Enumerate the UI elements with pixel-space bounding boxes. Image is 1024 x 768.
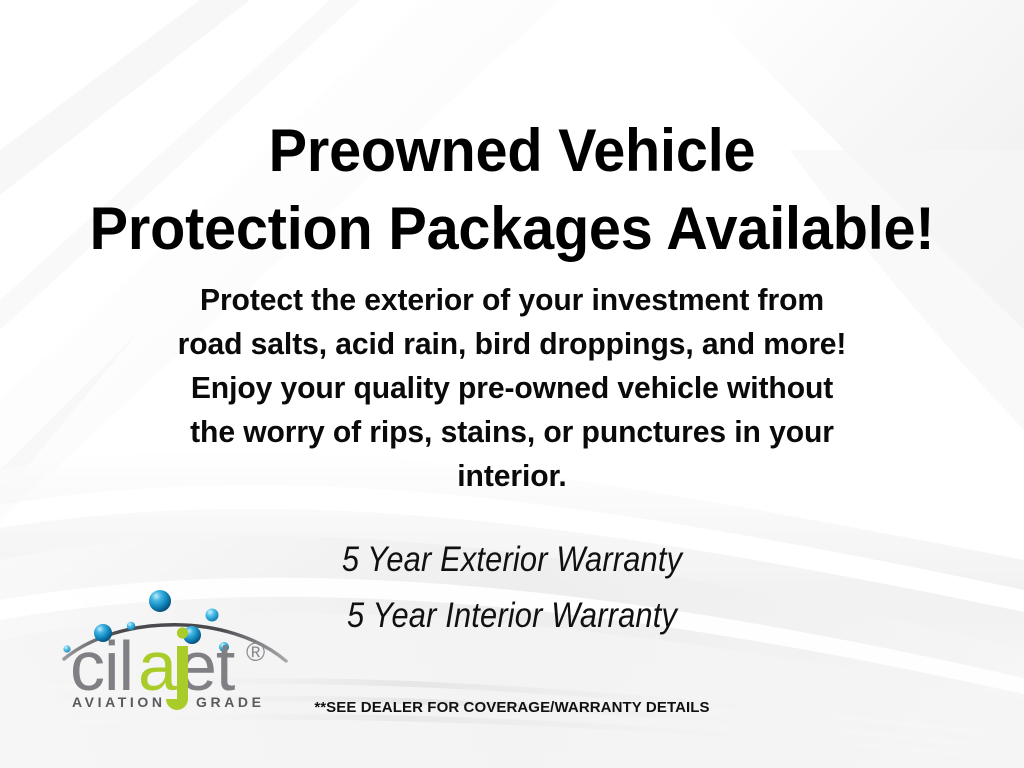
marketing-slide: Preowned Vehicle Protection Packages Ava… [0, 0, 1024, 768]
logo-bubble-medium-1 [206, 609, 219, 622]
logo-registered-trademark-icon: ® [246, 637, 265, 667]
body-line-1: Protect the exterior of your investment … [15, 278, 1008, 322]
cilajet-logo: cil a et ® AVIATION GRADE [60, 583, 295, 711]
warranty-exterior: 5 Year Exterior Warranty [61, 532, 962, 588]
page-title: Preowned Vehicle Protection Packages Ava… [20, 112, 1003, 268]
logo-bubble-large-1 [149, 590, 171, 612]
body-line-3: Enjoy your quality pre-owned vehicle wit… [15, 366, 1008, 410]
logo-tagline-grade: GRADE [196, 694, 265, 710]
body-line-4: the worry of rips, stains, or punctures … [15, 410, 1008, 454]
headline-line-1: Preowned Vehicle [20, 112, 1003, 190]
logo-tagline-aviation: AVIATION [72, 694, 166, 710]
body-line-5: interior. [15, 454, 1008, 498]
body-line-2: road salts, acid rain, bird droppings, a… [15, 322, 1008, 366]
headline-line-2: Protection Packages Available! [20, 190, 1003, 268]
body-copy: Protect the exterior of your investment … [15, 278, 1008, 498]
